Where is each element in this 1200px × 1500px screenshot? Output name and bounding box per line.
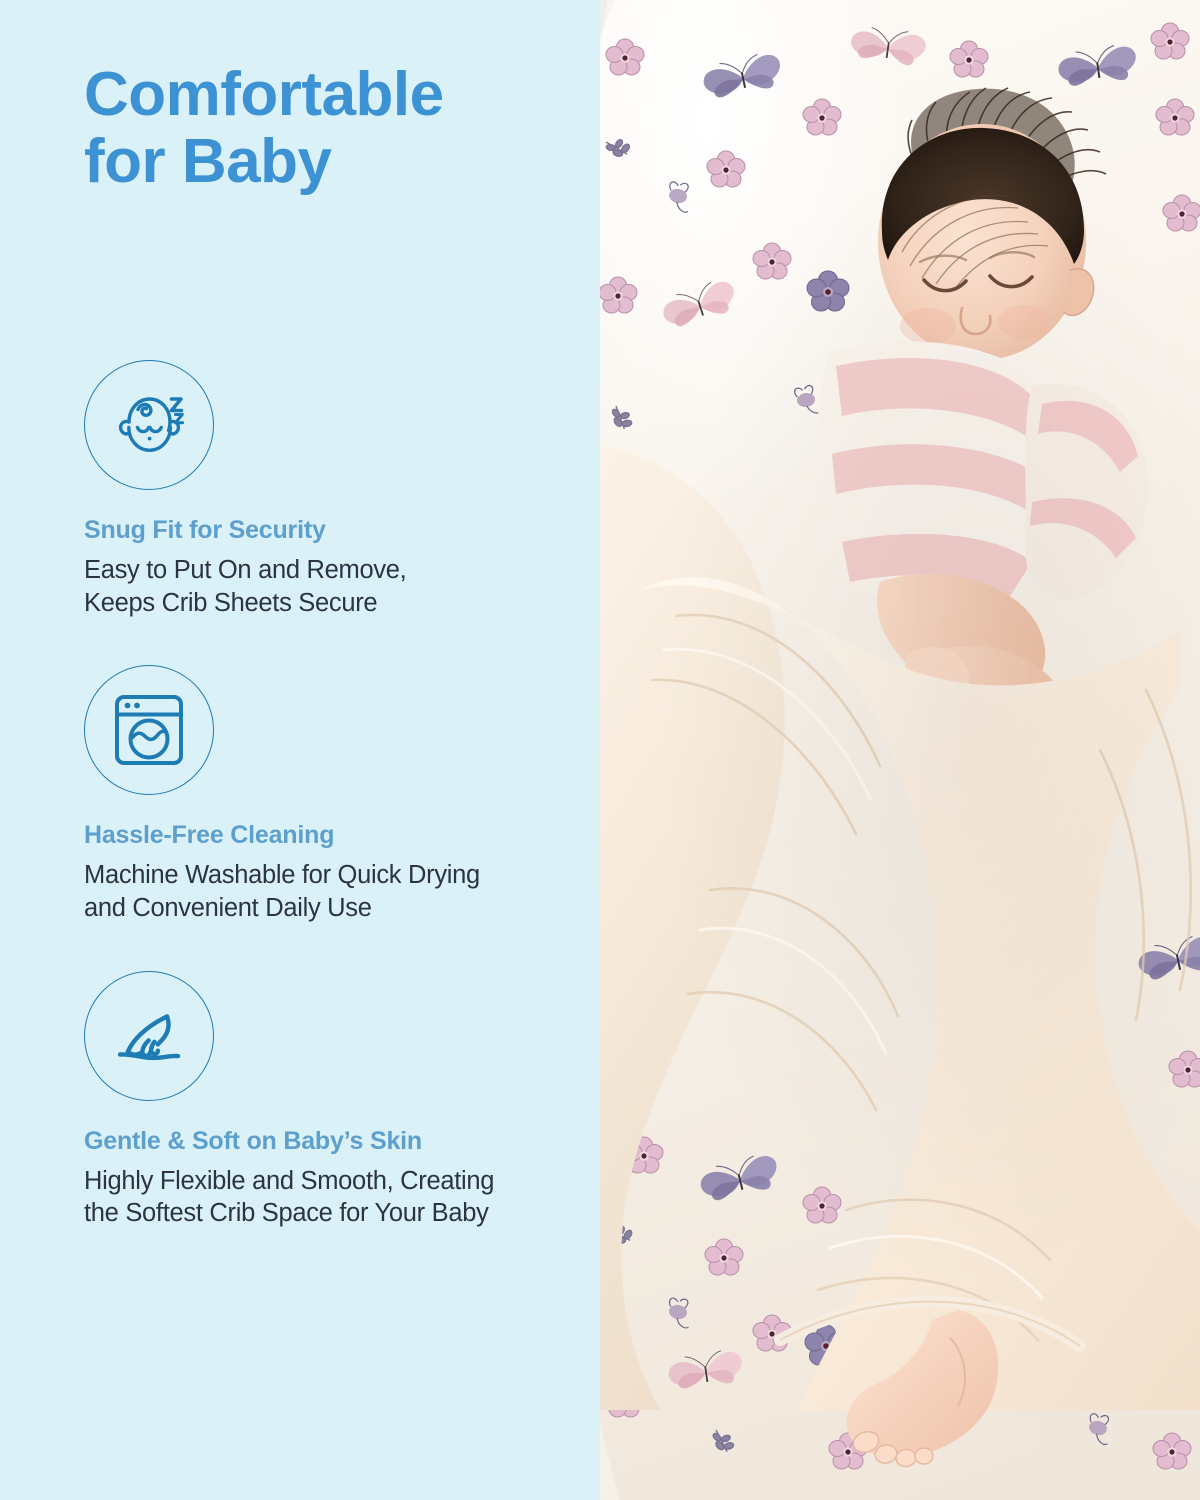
washing-machine-icon bbox=[84, 665, 214, 795]
left-info-panel: Comfortable for Baby bbox=[0, 0, 600, 1500]
feature-description: Highly Flexible and Smooth, Creating the… bbox=[84, 1165, 554, 1230]
hand-on-fabric-icon bbox=[84, 971, 214, 1101]
feature-item-gentle-soft: Gentle & Soft on Baby’s Skin Highly Flex… bbox=[0, 971, 600, 1230]
baby-foot bbox=[840, 1310, 1030, 1500]
baby-blanket-and-body bbox=[600, 330, 1200, 1410]
feature-item-cleaning: Hassle-Free Cleaning Machine Washable fo… bbox=[0, 665, 600, 924]
feature-title: Hassle-Free Cleaning bbox=[84, 821, 600, 850]
product-lifestyle-photo bbox=[600, 0, 1200, 1500]
feature-description: Machine Washable for Quick Drying and Co… bbox=[84, 859, 554, 924]
feature-title: Snug Fit for Security bbox=[84, 516, 600, 545]
feature-title: Gentle & Soft on Baby’s Skin bbox=[84, 1127, 600, 1156]
feature-item-snug-fit: Snug Fit for Security Easy to Put On and… bbox=[0, 360, 600, 619]
product-feature-page: Comfortable for Baby bbox=[0, 0, 1200, 1500]
sleeping-baby-icon bbox=[84, 360, 214, 490]
page-title: Comfortable for Baby bbox=[84, 62, 554, 196]
feature-description: Easy to Put On and Remove, Keeps Crib Sh… bbox=[84, 554, 554, 619]
feature-list: Snug Fit for Security Easy to Put On and… bbox=[0, 360, 600, 1276]
